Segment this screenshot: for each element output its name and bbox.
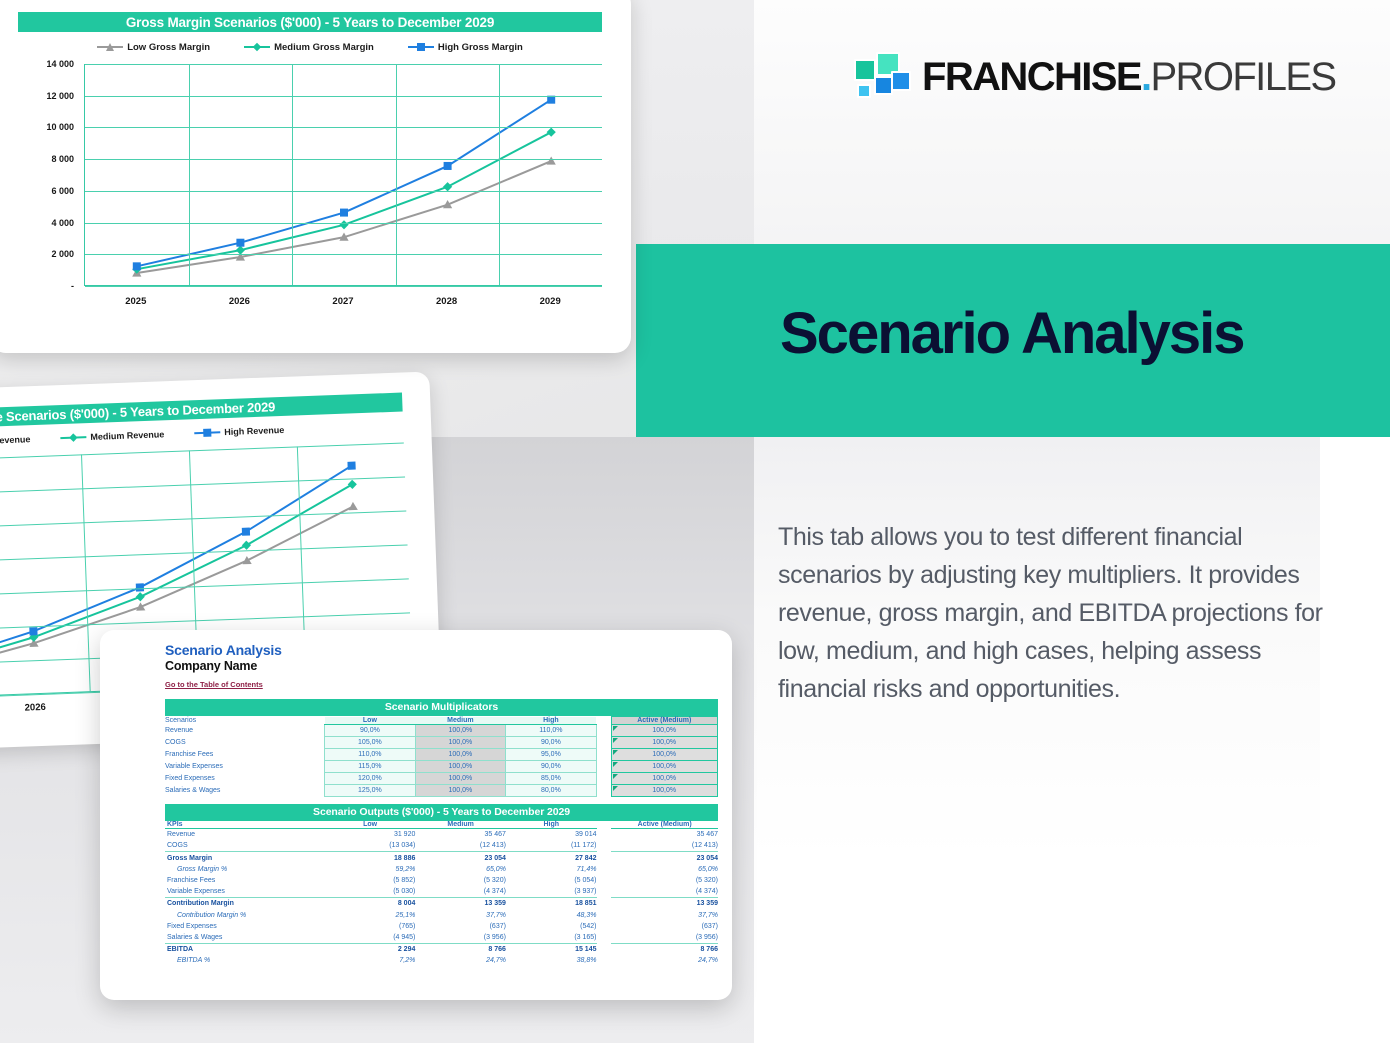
multiplicator-medium-cell[interactable]: 100,0% bbox=[415, 749, 505, 761]
table-row: Gross Margin18 88623 05427 84223 054 bbox=[165, 852, 718, 864]
data-point-marker bbox=[547, 156, 556, 164]
output-high-value: 48,3% bbox=[506, 909, 597, 920]
gridline-vertical bbox=[189, 64, 190, 285]
data-point-marker bbox=[547, 128, 556, 137]
y-axis-tick-label: 4 000 bbox=[51, 218, 74, 228]
output-active-value: 35 467 bbox=[611, 829, 718, 841]
multiplicator-spacer bbox=[596, 773, 611, 785]
output-spacer bbox=[597, 840, 612, 852]
gridline-horizontal bbox=[85, 254, 602, 255]
output-spacer bbox=[597, 898, 612, 910]
multiplicator-active-cell[interactable]: 100,0% bbox=[611, 725, 717, 737]
scenario-multiplicators-band: Scenario Multiplicators bbox=[165, 699, 718, 716]
series-line bbox=[137, 100, 551, 267]
multiplicator-spacer bbox=[596, 761, 611, 773]
legend-item-medium-gross-margin: Medium Gross Margin bbox=[244, 42, 374, 53]
background-panel-top-right bbox=[754, 0, 1390, 244]
logo-wordmark: FRANCHISE.PROFILES bbox=[922, 57, 1336, 97]
multiplicators-body: Revenue90,0%100,0%110,0%100,0%COGS105,0%… bbox=[165, 725, 718, 797]
multiplicator-low-cell[interactable]: 110,0% bbox=[325, 749, 415, 761]
multiplicator-row: Revenue90,0%100,0%110,0%100,0% bbox=[165, 725, 718, 737]
sheet-title: Scenario Analysis bbox=[165, 642, 718, 658]
data-point-marker bbox=[348, 480, 358, 490]
multiplicator-high-cell[interactable]: 80,0% bbox=[506, 785, 596, 797]
x-axis-tick-label: 2025 bbox=[125, 296, 146, 307]
multiplicator-row: Variable Expenses115,0%100,0%90,0%100,0% bbox=[165, 761, 718, 773]
table-row: EBITDA %7,2%24,7%38,8%24,7% bbox=[165, 955, 718, 966]
output-medium-value: (12 413) bbox=[415, 840, 506, 852]
multiplicator-high-cell[interactable]: 90,0% bbox=[506, 761, 596, 773]
output-active-value: 37,7% bbox=[611, 909, 718, 920]
output-active-value: 23 054 bbox=[611, 852, 718, 864]
multiplicator-medium-cell[interactable]: 100,0% bbox=[415, 737, 505, 749]
x-axis-tick-label: 2027 bbox=[332, 296, 353, 307]
data-point-marker bbox=[236, 239, 244, 247]
output-label: Contribution Margin bbox=[165, 898, 325, 910]
multiplicator-low-cell[interactable]: 125,0% bbox=[325, 785, 415, 797]
multiplicators-row-header: Scenarios bbox=[165, 717, 325, 725]
output-low-value: (4 945) bbox=[325, 932, 416, 944]
gridline-horizontal bbox=[85, 286, 602, 287]
table-row: Gross Margin %59,2%65,0%71,4%65,0% bbox=[165, 864, 718, 875]
logo-square-cyan bbox=[857, 84, 871, 98]
triangle-marker-icon bbox=[106, 43, 114, 51]
comment-flag-icon bbox=[613, 762, 618, 767]
output-spacer bbox=[597, 921, 612, 932]
logo-square-teal-1 bbox=[854, 59, 876, 81]
output-active-value: (3 956) bbox=[611, 932, 718, 944]
data-point-marker bbox=[348, 502, 357, 511]
output-high-value: 71,4% bbox=[506, 864, 597, 875]
comment-flag-icon bbox=[613, 786, 618, 791]
multiplicator-row: Salaries & Wages125,0%100,0%80,0%100,0% bbox=[165, 785, 718, 797]
gross-margin-y-axis: -2 0004 0006 0008 00010 00012 00014 000 bbox=[18, 64, 80, 286]
y-axis-tick-label: 12 000 bbox=[46, 91, 74, 101]
legend-label-low-revenue: Low Revenue bbox=[0, 434, 31, 446]
output-high-value: 27 842 bbox=[506, 852, 597, 864]
output-low-value: 7,2% bbox=[325, 955, 416, 966]
gridline-horizontal bbox=[85, 159, 602, 160]
x-axis-tick-label: 2026 bbox=[24, 702, 46, 714]
output-spacer bbox=[597, 943, 612, 955]
output-high-value: (3 937) bbox=[506, 886, 597, 898]
output-low-value: (765) bbox=[325, 921, 416, 932]
legend-label-medium-gross-margin: Medium Gross Margin bbox=[274, 42, 374, 53]
data-point-marker bbox=[444, 162, 452, 170]
multiplicator-row: Fixed Expenses120,0%100,0%85,0%100,0% bbox=[165, 773, 718, 785]
output-label: COGS bbox=[165, 840, 325, 852]
x-axis-tick-label: 2029 bbox=[540, 296, 561, 307]
page-description: This tab allows you to test different fi… bbox=[778, 518, 1338, 708]
scenario-outputs-table: KPIs Low Medium High Active (Medium) Rev… bbox=[165, 821, 718, 966]
y-axis-tick-label: 14 000 bbox=[46, 59, 74, 69]
multiplicator-high-cell[interactable]: 110,0% bbox=[506, 725, 596, 737]
y-axis-tick-label: 6 000 bbox=[51, 186, 74, 196]
outputs-col-high: High bbox=[506, 821, 597, 829]
output-active-value: 8 766 bbox=[611, 943, 718, 955]
gridline-vertical bbox=[499, 64, 500, 285]
output-high-value: (5 054) bbox=[506, 875, 597, 886]
multiplicator-label: Variable Expenses bbox=[165, 761, 325, 773]
scenario-multiplicators-table: Scenarios Low Medium High Active (Medium… bbox=[165, 716, 718, 797]
multiplicators-col-low: Low bbox=[325, 717, 415, 725]
gridline-horizontal bbox=[85, 127, 602, 128]
output-low-value: 59,2% bbox=[325, 864, 416, 875]
multiplicators-col-high: High bbox=[506, 717, 596, 725]
output-medium-value: 13 359 bbox=[415, 898, 506, 910]
outputs-col-low: Low bbox=[325, 821, 416, 829]
output-low-value: 8 004 bbox=[325, 898, 416, 910]
multiplicator-label: Salaries & Wages bbox=[165, 785, 325, 797]
comment-flag-icon bbox=[613, 774, 618, 779]
output-low-value: (5 852) bbox=[325, 875, 416, 886]
output-medium-value: 37,7% bbox=[415, 909, 506, 920]
table-of-contents-link[interactable]: Go to the Table of Contents bbox=[165, 680, 263, 689]
multiplicator-spacer bbox=[596, 737, 611, 749]
output-low-value: 25,1% bbox=[325, 909, 416, 920]
output-label: EBITDA % bbox=[165, 955, 325, 966]
output-label: Variable Expenses bbox=[165, 886, 325, 898]
outputs-col-medium: Medium bbox=[415, 821, 506, 829]
multiplicator-medium-cell[interactable]: 100,0% bbox=[415, 761, 505, 773]
multiplicator-active-cell[interactable]: 100,0% bbox=[611, 749, 717, 761]
legend-item-low-gross-margin: Low Gross Margin bbox=[97, 42, 210, 53]
legend-label-high-gross-margin: High Gross Margin bbox=[438, 42, 523, 53]
multiplicator-active-cell[interactable]: 100,0% bbox=[611, 761, 717, 773]
x-axis-tick-label: 2026 bbox=[229, 296, 250, 307]
gridline-horizontal bbox=[85, 223, 602, 224]
table-row: EBITDA2 2948 76615 1458 766 bbox=[165, 943, 718, 955]
multiplicator-label: Revenue bbox=[165, 725, 325, 737]
output-spacer bbox=[597, 875, 612, 886]
output-high-value: 39 014 bbox=[506, 829, 597, 841]
output-medium-value: (637) bbox=[415, 921, 506, 932]
gross-margin-x-axis-labels: 20252026202720282029 bbox=[84, 296, 602, 312]
data-point-marker bbox=[133, 262, 141, 270]
multiplicator-spacer bbox=[596, 785, 611, 797]
output-label: Gross Margin bbox=[165, 852, 325, 864]
page-title: Scenario Analysis bbox=[780, 305, 1380, 363]
output-spacer bbox=[597, 955, 612, 966]
data-point-marker bbox=[242, 556, 251, 565]
output-active-value: (637) bbox=[611, 921, 718, 932]
multiplicator-spacer bbox=[596, 725, 611, 737]
data-point-marker bbox=[242, 528, 250, 536]
output-label: Contribution Margin % bbox=[165, 909, 325, 920]
sheet-company-name: Company Name bbox=[165, 659, 718, 674]
output-high-value: 18 851 bbox=[506, 898, 597, 910]
multiplicator-label: Franchise Fees bbox=[165, 749, 325, 761]
output-active-value: (12 413) bbox=[611, 840, 718, 852]
franchise-profiles-logo: FRANCHISE.PROFILES bbox=[852, 48, 1352, 106]
legend-item-high-revenue: High Revenue bbox=[194, 425, 284, 438]
multiplicator-low-cell[interactable]: 120,0% bbox=[325, 773, 415, 785]
output-medium-value: 23 054 bbox=[415, 852, 506, 864]
output-label: EBITDA bbox=[165, 943, 325, 955]
gross-margin-chart-card: Gross Margin Scenarios ($'000) - 5 Years… bbox=[0, 0, 631, 353]
gridline-vertical bbox=[396, 64, 397, 285]
output-medium-value: (5 320) bbox=[415, 875, 506, 886]
output-low-value: (5 030) bbox=[325, 886, 416, 898]
output-spacer bbox=[597, 829, 612, 841]
output-label: Fixed Expenses bbox=[165, 921, 325, 932]
output-spacer bbox=[597, 909, 612, 920]
legend-item-medium-revenue: Medium Revenue bbox=[60, 429, 164, 443]
legend-item-high-gross-margin: High Gross Margin bbox=[408, 42, 523, 53]
output-label: Revenue bbox=[165, 829, 325, 841]
comment-flag-icon bbox=[613, 726, 618, 731]
multiplicators-header-row: Scenarios Low Medium High Active (Medium… bbox=[165, 717, 718, 725]
legend-line-green bbox=[60, 436, 86, 439]
output-active-value: (4 374) bbox=[611, 886, 718, 898]
output-label: Franchise Fees bbox=[165, 875, 325, 886]
multiplicator-spacer bbox=[596, 749, 611, 761]
scenario-sheet-content: Scenario Analysis Company Name Go to the… bbox=[165, 642, 718, 966]
legend-item-low-revenue: Low Revenue bbox=[0, 434, 31, 447]
legend-line-blue bbox=[408, 46, 434, 48]
multiplicator-active-cell[interactable]: 100,0% bbox=[611, 785, 717, 797]
output-label: Salaries & Wages bbox=[165, 932, 325, 944]
gridline-vertical bbox=[292, 64, 293, 285]
table-row: Franchise Fees(5 852)(5 320)(5 054)(5 32… bbox=[165, 875, 718, 886]
output-spacer bbox=[597, 886, 612, 898]
output-high-value: 15 145 bbox=[506, 943, 597, 955]
multiplicator-label: Fixed Expenses bbox=[165, 773, 325, 785]
multiplicator-active-cell[interactable]: 100,0% bbox=[611, 737, 717, 749]
multiplicator-active-cell[interactable]: 100,0% bbox=[611, 773, 717, 785]
gross-margin-chart-legend: Low Gross Margin Medium Gross Margin Hig… bbox=[18, 40, 602, 54]
output-medium-value: 24,7% bbox=[415, 955, 506, 966]
data-point-marker bbox=[135, 592, 145, 602]
table-row: Salaries & Wages(4 945)(3 956)(3 165)(3 … bbox=[165, 932, 718, 944]
multiplicators-spacer bbox=[596, 717, 611, 725]
y-axis-tick-label: 10 000 bbox=[46, 122, 74, 132]
multiplicator-high-cell[interactable]: 90,0% bbox=[506, 737, 596, 749]
data-point-marker bbox=[340, 209, 348, 217]
output-high-value: 38,8% bbox=[506, 955, 597, 966]
x-axis-tick-label: 2028 bbox=[436, 296, 457, 307]
multiplicator-row: Franchise Fees110,0%100,0%95,0%100,0% bbox=[165, 749, 718, 761]
series-line bbox=[137, 132, 551, 269]
gross-margin-series-svg bbox=[85, 64, 603, 286]
square-marker-icon bbox=[417, 43, 425, 51]
output-low-value: 2 294 bbox=[325, 943, 416, 955]
table-row: Fixed Expenses(765)(637)(542)(637) bbox=[165, 921, 718, 932]
table-row: Contribution Margin %25,1%37,7%48,3%37,7… bbox=[165, 909, 718, 920]
comment-flag-icon bbox=[613, 738, 618, 743]
logo-text-franchise: FRANCHISE bbox=[922, 55, 1141, 99]
outputs-header-row: KPIs Low Medium High Active (Medium) bbox=[165, 821, 718, 829]
data-point-marker bbox=[347, 462, 355, 470]
legend-label-high-revenue: High Revenue bbox=[224, 425, 284, 437]
outputs-spacer bbox=[597, 821, 612, 829]
output-high-value: (11 172) bbox=[506, 840, 597, 852]
multiplicator-low-cell[interactable]: 105,0% bbox=[325, 737, 415, 749]
output-active-value: 13 359 bbox=[611, 898, 718, 910]
output-spacer bbox=[597, 932, 612, 944]
multiplicator-medium-cell[interactable]: 100,0% bbox=[415, 785, 505, 797]
output-low-value: 31 920 bbox=[325, 829, 416, 841]
legend-line-blue bbox=[194, 431, 220, 434]
data-point-marker bbox=[242, 540, 252, 550]
output-active-value: (5 320) bbox=[611, 875, 718, 886]
y-axis-tick-label: - bbox=[71, 281, 74, 291]
output-low-value: 18 886 bbox=[325, 852, 416, 864]
table-row: Revenue31 92035 46739 01435 467 bbox=[165, 829, 718, 841]
output-medium-value: (3 956) bbox=[415, 932, 506, 944]
multiplicator-medium-cell[interactable]: 100,0% bbox=[415, 725, 505, 737]
output-spacer bbox=[597, 852, 612, 864]
data-point-marker bbox=[547, 96, 555, 104]
output-spacer bbox=[597, 864, 612, 875]
comment-flag-icon bbox=[613, 750, 618, 755]
y-axis-tick-label: 2 000 bbox=[51, 249, 74, 259]
output-high-value: (3 165) bbox=[506, 932, 597, 944]
table-row: COGS(13 034)(12 413)(11 172)(12 413) bbox=[165, 840, 718, 852]
data-point-marker bbox=[339, 220, 348, 229]
multiplicator-row: COGS105,0%100,0%90,0%100,0% bbox=[165, 737, 718, 749]
table-row: Variable Expenses(5 030)(4 374)(3 937)(4… bbox=[165, 886, 718, 898]
multiplicator-low-cell[interactable]: 90,0% bbox=[325, 725, 415, 737]
output-medium-value: 65,0% bbox=[415, 864, 506, 875]
multiplicators-col-medium: Medium bbox=[415, 717, 505, 725]
outputs-row-header: KPIs bbox=[165, 821, 325, 829]
data-point-marker bbox=[29, 627, 37, 635]
multiplicator-low-cell[interactable]: 115,0% bbox=[325, 761, 415, 773]
multiplicator-high-cell[interactable]: 85,0% bbox=[506, 773, 596, 785]
legend-label-medium-revenue: Medium Revenue bbox=[90, 429, 164, 442]
logo-mark-icon bbox=[852, 51, 908, 103]
output-medium-value: 35 467 bbox=[415, 829, 506, 841]
series-line bbox=[137, 161, 551, 273]
gridline-horizontal bbox=[85, 64, 602, 65]
multiplicator-medium-cell[interactable]: 100,0% bbox=[415, 773, 505, 785]
legend-line-grey bbox=[97, 46, 123, 48]
legend-label-low-gross-margin: Low Gross Margin bbox=[127, 42, 210, 53]
output-medium-value: 8 766 bbox=[415, 943, 506, 955]
output-medium-value: (4 374) bbox=[415, 886, 506, 898]
output-low-value: (13 034) bbox=[325, 840, 416, 852]
logo-text-profiles: PROFILES bbox=[1150, 55, 1335, 99]
multiplicators-col-active: Active (Medium) bbox=[611, 717, 717, 725]
outputs-col-active: Active (Medium) bbox=[611, 821, 718, 829]
gross-margin-chart-title: Gross Margin Scenarios ($'000) - 5 Years… bbox=[18, 12, 602, 32]
gridline-horizontal bbox=[85, 191, 602, 192]
gross-margin-chart-inner: Gross Margin Scenarios ($'000) - 5 Years… bbox=[0, 0, 631, 353]
scenario-sheet-card: Scenario Analysis Company Name Go to the… bbox=[100, 630, 732, 1000]
output-active-value: 24,7% bbox=[611, 955, 718, 966]
output-high-value: (542) bbox=[506, 921, 597, 932]
multiplicator-label: COGS bbox=[165, 737, 325, 749]
outputs-body: Revenue31 92035 46739 01435 467COGS(13 0… bbox=[165, 829, 718, 967]
legend-line-green bbox=[244, 46, 270, 48]
output-active-value: 65,0% bbox=[611, 864, 718, 875]
diamond-marker-icon bbox=[69, 433, 77, 441]
y-axis-tick-label: 8 000 bbox=[51, 154, 74, 164]
gridline-horizontal bbox=[85, 96, 602, 97]
scenario-outputs-band: Scenario Outputs ($'000) - 5 Years to De… bbox=[165, 804, 718, 821]
logo-square-blue-2 bbox=[891, 71, 911, 91]
table-row: Contribution Margin8 00413 35918 85113 3… bbox=[165, 898, 718, 910]
multiplicator-high-cell[interactable]: 95,0% bbox=[506, 749, 596, 761]
gross-margin-plot-grid bbox=[84, 64, 602, 286]
square-marker-icon bbox=[203, 429, 211, 437]
output-label: Gross Margin % bbox=[165, 864, 325, 875]
gross-margin-plot-area: -2 0004 0006 0008 00010 00012 00014 000 … bbox=[18, 64, 602, 324]
diamond-marker-icon bbox=[253, 43, 261, 51]
